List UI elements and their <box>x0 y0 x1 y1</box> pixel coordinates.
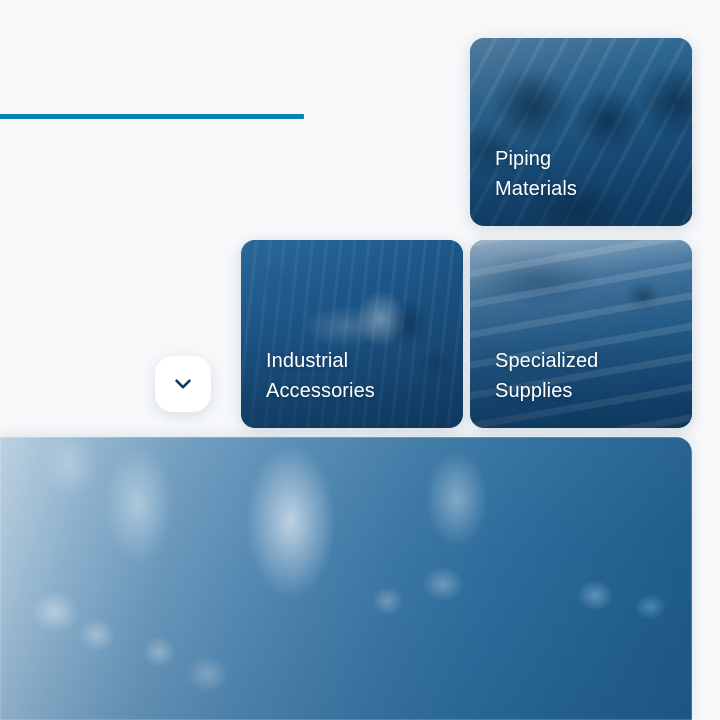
page-title: olutions <box>0 22 320 108</box>
chevron-down-icon <box>175 379 191 390</box>
category-label-line-2: Accessories <box>266 376 445 406</box>
category-card-label: Industrial Accessories <box>266 346 445 406</box>
category-card-label: Specialized Supplies <box>495 346 674 406</box>
category-card-industrial-accessories[interactable]: Industrial Accessories <box>241 240 463 428</box>
category-card-piping-materials[interactable]: Piping Materials <box>470 38 692 226</box>
category-label-line-1: Specialized <box>495 346 674 376</box>
hero-photo-overlay <box>0 437 692 720</box>
scroll-down-button[interactable] <box>155 356 211 412</box>
title-underline-rule <box>0 114 304 119</box>
category-label-line-2: Supplies <box>495 376 674 406</box>
hero-heading-block: olutions dard <box>0 22 320 179</box>
page-subtitle: dard <box>0 151 320 179</box>
category-label-line-1: Industrial <box>266 346 445 376</box>
hero-photo <box>0 437 692 720</box>
category-label-line-1: Piping <box>495 144 674 174</box>
category-card-specialized-supplies[interactable]: Specialized Supplies <box>470 240 692 428</box>
category-label-line-2: Materials <box>495 174 674 204</box>
category-card-label: Piping Materials <box>495 144 674 204</box>
